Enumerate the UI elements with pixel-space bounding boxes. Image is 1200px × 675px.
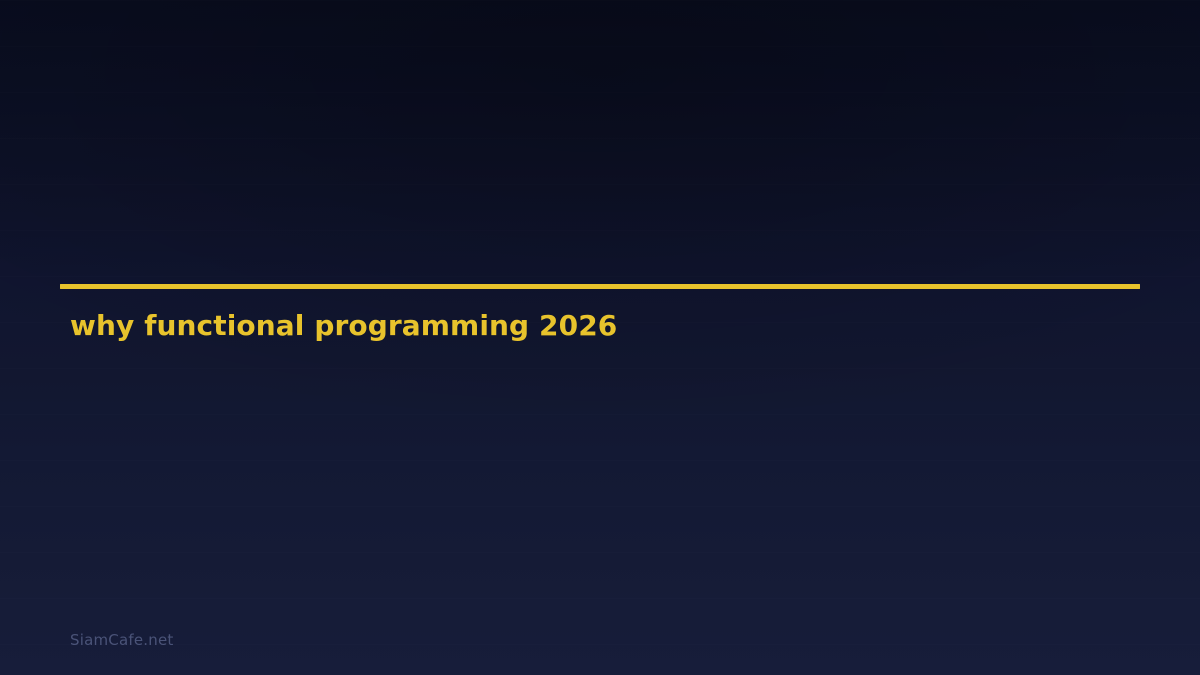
- footer-attribution: SiamCafe.net: [70, 630, 173, 650]
- title-slide: why functional programming 2026 SiamCafe…: [0, 0, 1200, 675]
- accent-rule: [60, 284, 1140, 289]
- page-title: why functional programming 2026: [70, 309, 1140, 343]
- title-block: why functional programming 2026: [60, 284, 1140, 343]
